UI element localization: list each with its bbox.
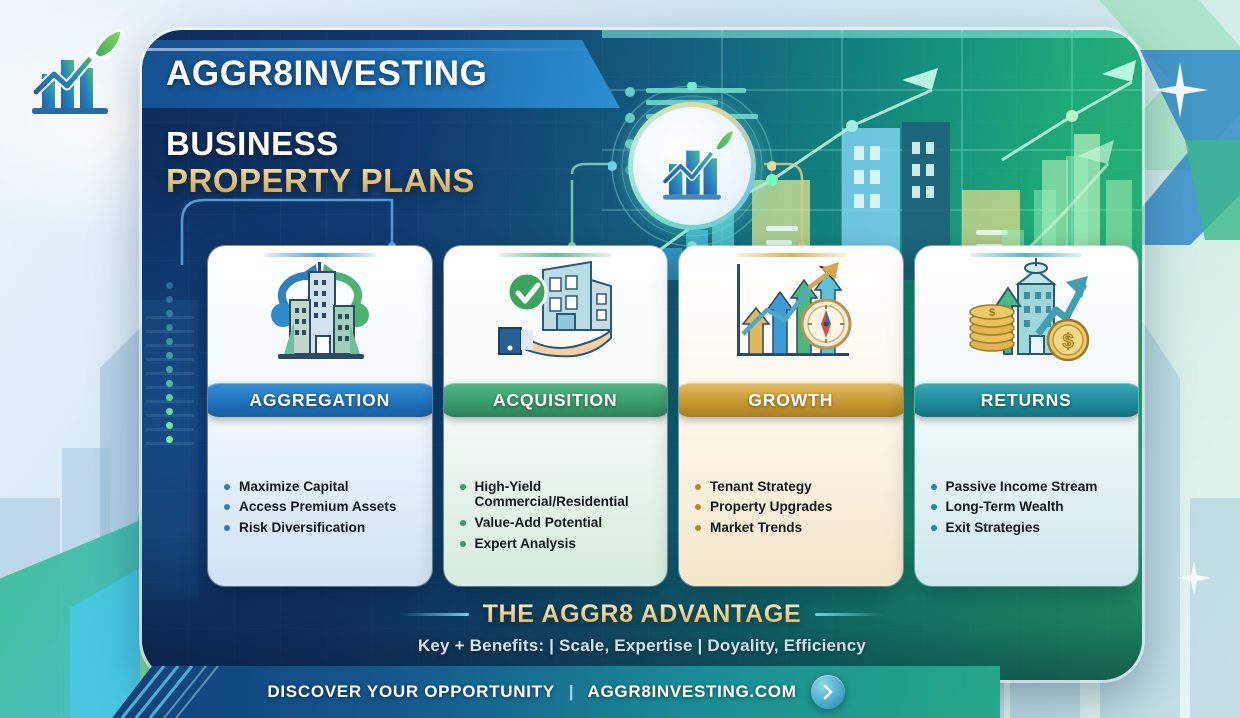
advantage-subtitle: Key + Benefits: | Scale, Expertise | Doy… (142, 636, 1142, 656)
cta-website: AGGR8INVESTING.COM (588, 682, 797, 702)
center-emblem (614, 88, 770, 244)
list-item: Long-Term Wealth (931, 499, 1139, 515)
hand-holding-building-check-icon (487, 258, 623, 370)
list-item: Property Upgrades (695, 499, 903, 515)
card-icon-area (679, 246, 903, 381)
plan-card-aggregation[interactable]: AGGREGATION POOLING FUNDS & OPPORTUNITIE… (208, 246, 432, 586)
list-item: Expert Analysis (460, 536, 668, 552)
card-label-returns: RETURNS (915, 383, 1139, 417)
list-item: Passive Income Stream (931, 479, 1139, 495)
advantage-title-row: THE AGGR8 ADVANTAGE (142, 600, 1142, 629)
card-label-wrap: GROWTH (679, 383, 903, 417)
card-icon-area: $ $ (915, 246, 1139, 381)
card-icon-area (444, 246, 668, 381)
list-item: Maximize Capital (224, 479, 432, 495)
main-panel: AGGR8INVESTING BUSINESS PROPERTY PLANS (142, 30, 1142, 680)
list-item: Access Premium Assets (224, 499, 432, 515)
card-label-wrap: AGGREGATION (208, 383, 432, 417)
coins-building-arrow-icon: $ $ (958, 258, 1094, 370)
advantage-title: THE AGGR8 ADVANTAGE (483, 600, 802, 629)
emblem-ring (628, 102, 756, 230)
cta-text-left: DISCOVER YOUR OPPORTUNITY (267, 682, 554, 702)
bar-chart-leaf-emblem-icon (644, 118, 740, 214)
card-label-wrap: ACQUISITION (444, 383, 668, 417)
card-label-acquisition: ACQUISITION (444, 383, 668, 417)
advantage-section: THE AGGR8 ADVANTAGE Key + Benefits: | Sc… (142, 600, 1142, 656)
brand-ribbon: AGGR8INVESTING (142, 40, 620, 108)
card-bullet-list: High-Yield Commercial/Residential Value-… (460, 479, 668, 552)
card-bullet-list: Passive Income Stream Long-Term Wealth E… (931, 479, 1139, 536)
cta-arrow-button[interactable] (811, 675, 845, 709)
list-item: Value-Add Potential (460, 515, 668, 531)
ribbon-highlight (142, 48, 602, 51)
infographic-canvas: AGGR8INVESTING BUSINESS PROPERTY PLANS (0, 0, 1240, 718)
rising-bar-chart-compass-icon (723, 258, 859, 370)
plan-card-growth[interactable]: GROWTH PORTFOLIO MANAGEMENT & DEVELOPMEN… (679, 246, 903, 586)
card-label-aggregation: AGGREGATION (208, 383, 432, 417)
brand-wordmark: AGGR8INVESTING (166, 54, 488, 94)
card-label-wrap: RETURNS (915, 383, 1139, 417)
plan-card-acquisition[interactable]: ACQUISITION STRATEGIC PROPERTY SELECTION… (444, 246, 668, 586)
svg-text:$: $ (1063, 331, 1074, 353)
plan-cards-row: AGGREGATION POOLING FUNDS & OPPORTUNITIE… (208, 246, 1138, 586)
panel-dot-column (166, 282, 173, 443)
list-item: Risk Diversification (224, 520, 432, 536)
list-item: Market Trends (695, 520, 903, 536)
buildings-circular-arrows-icon (254, 258, 386, 370)
card-bullet-list: Tenant Strategy Property Upgrades Market… (695, 479, 903, 536)
advantage-rule-right (815, 613, 885, 616)
cta-bar[interactable]: DISCOVER YOUR OPPORTUNITY | AGGR8INVESTI… (112, 666, 1000, 718)
card-icon-area (208, 246, 432, 381)
card-label-growth: GROWTH (679, 383, 903, 417)
chevron-right-icon (820, 684, 836, 700)
card-bullet-list: Maximize Capital Access Premium Assets R… (224, 479, 432, 536)
bar-chart-leaf-growth-icon (22, 26, 130, 122)
list-item: Tenant Strategy (695, 479, 903, 495)
list-item: High-Yield Commercial/Residential (460, 479, 668, 510)
advantage-rule-left (399, 613, 469, 616)
list-item: Exit Strategies (931, 520, 1139, 536)
emblem-inner (633, 107, 751, 225)
plan-card-returns[interactable]: $ $ RETURNS CONSISTENT DIVIDENDS & CAPIT… (915, 246, 1139, 586)
svg-text:$: $ (989, 307, 995, 319)
cta-separator: | (569, 682, 574, 702)
